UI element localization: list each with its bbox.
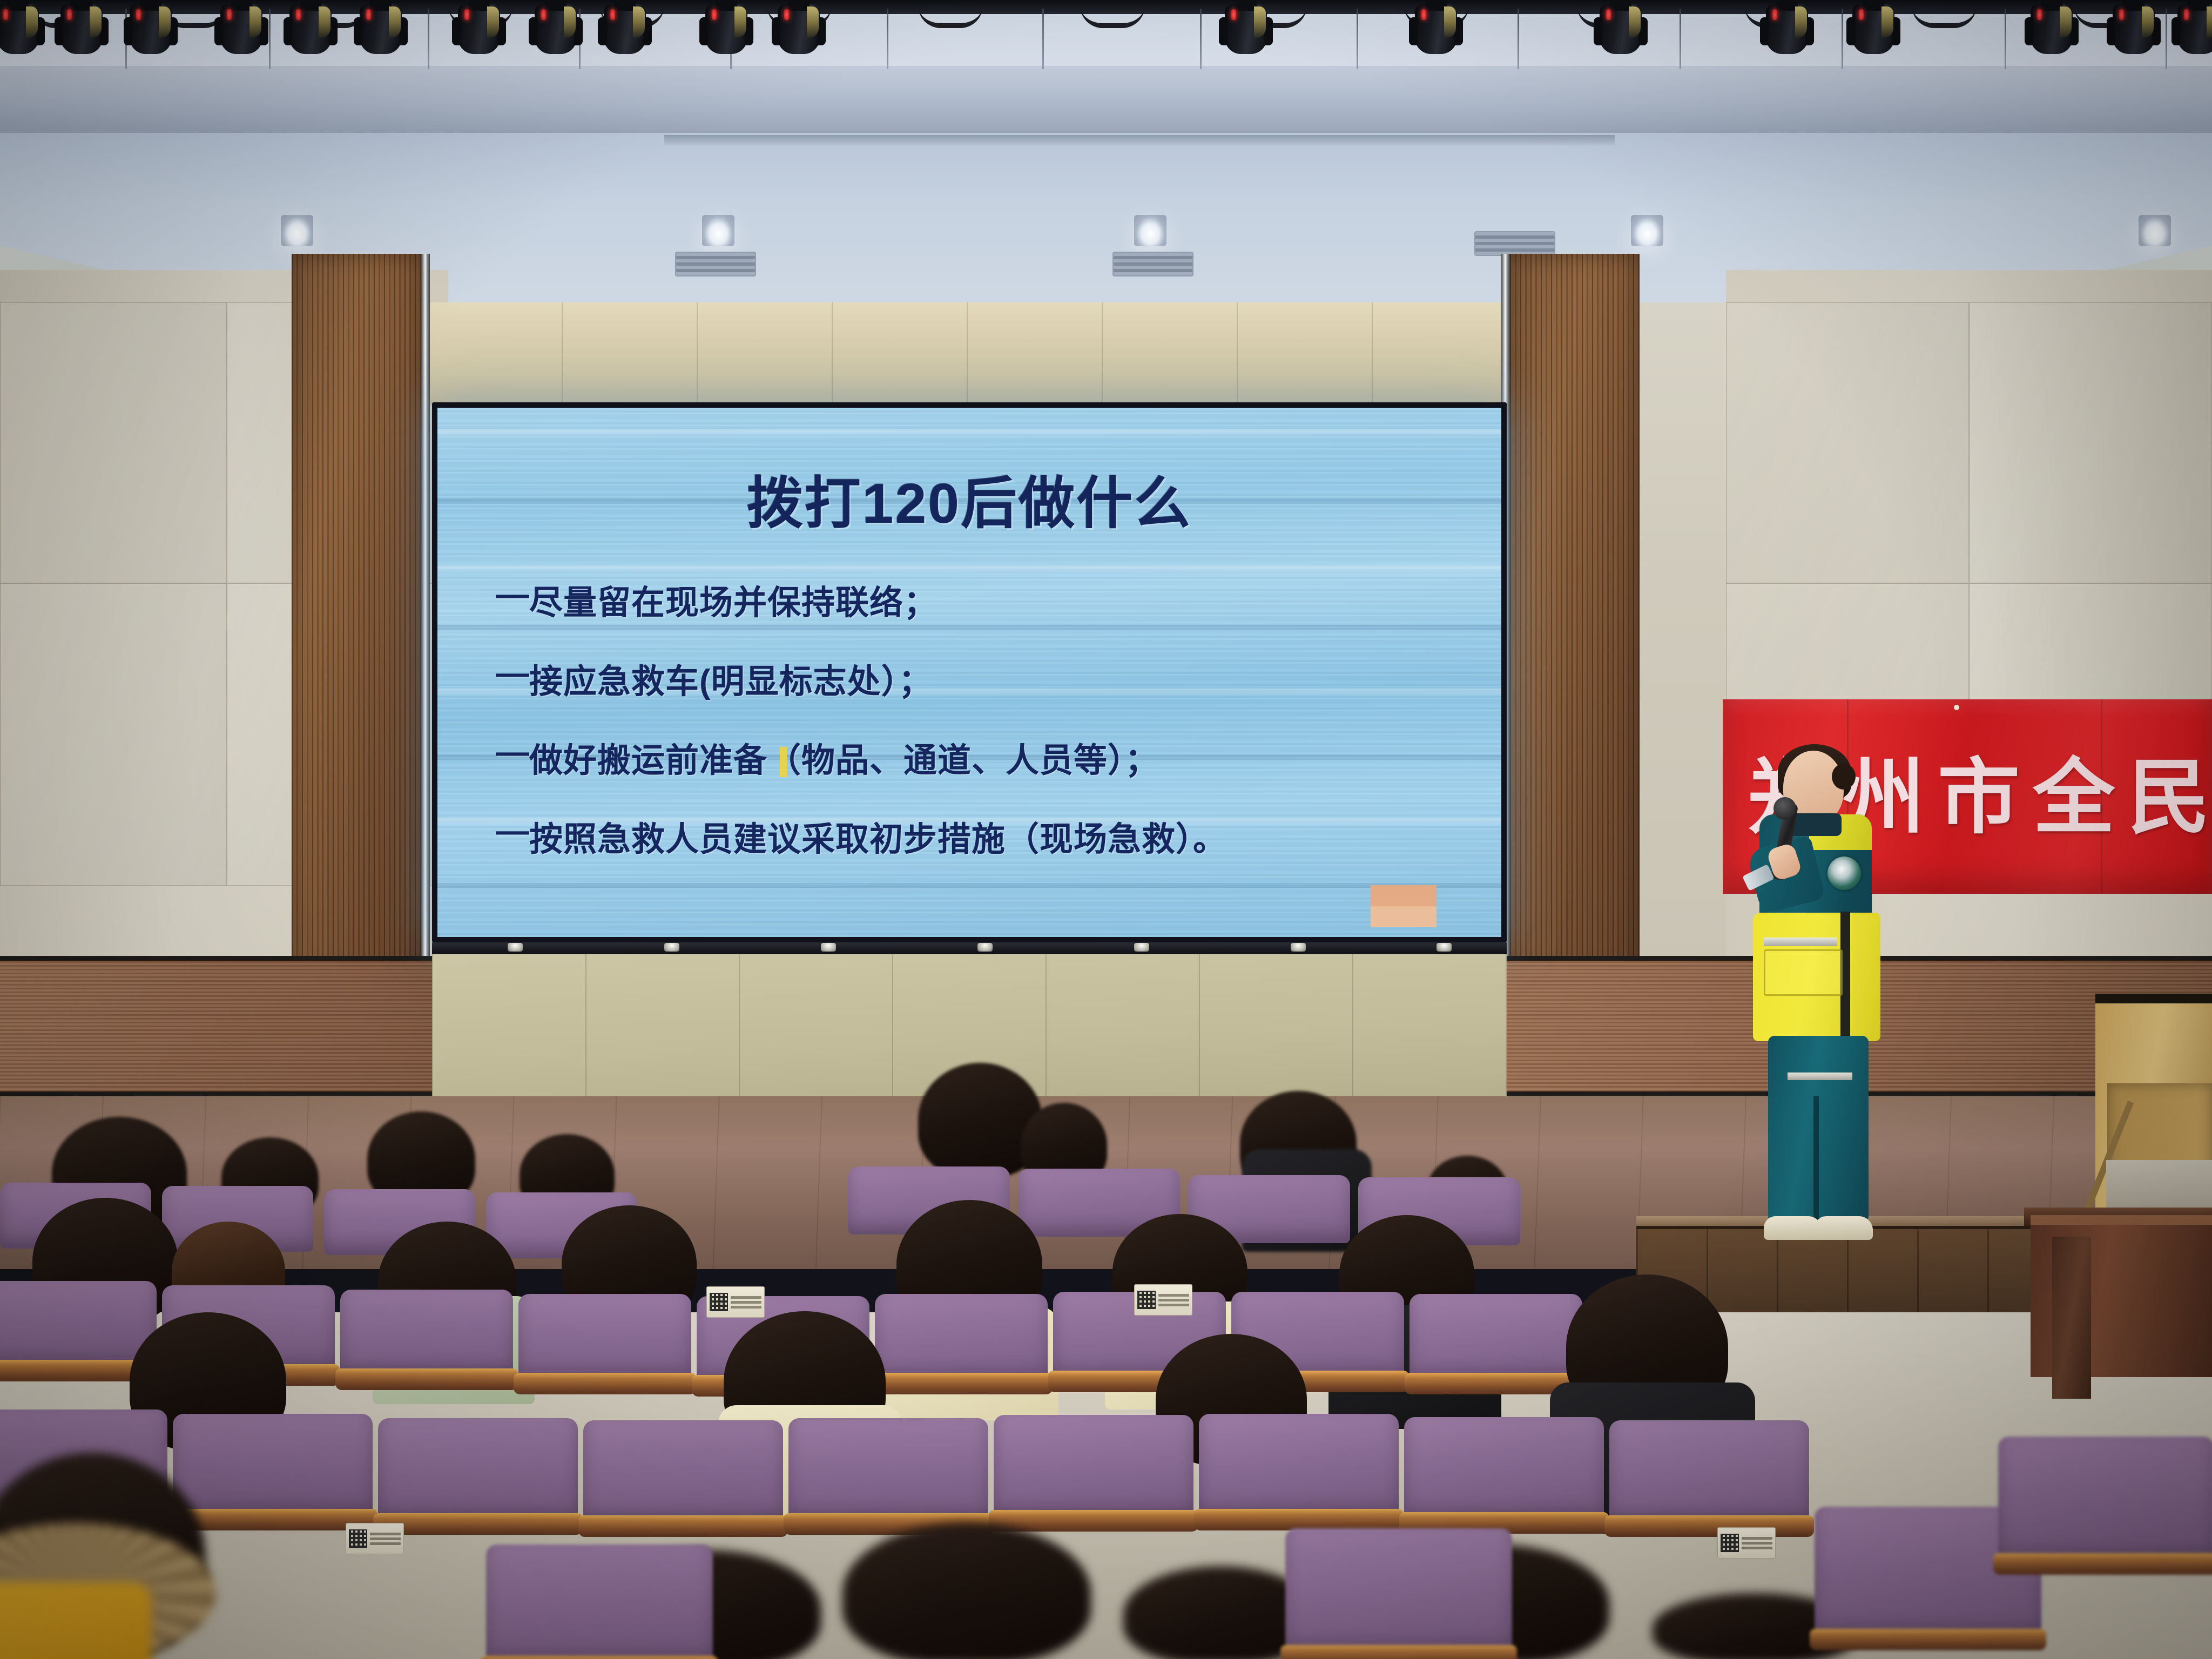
air-vent [1112, 252, 1193, 276]
seat[interactable] [1609, 1420, 1809, 1523]
bullet-text: 做好搬运前准备（物品、通道、人员等）； [529, 733, 1159, 781]
audience-coat [0, 1582, 151, 1659]
presenter-hair-bun [1832, 764, 1856, 790]
bullet-dash: — [496, 575, 529, 613]
stage-light-icon [535, 4, 577, 54]
stage-light-icon [360, 4, 402, 54]
air-vent [675, 252, 756, 276]
stage-light-icon [705, 4, 747, 54]
presenter-vest-pocket [1764, 949, 1843, 996]
wood-column-left [292, 254, 421, 977]
stage-light-icon [778, 4, 820, 54]
presenter-leg-separation [1813, 1096, 1819, 1222]
bezel-stud [508, 943, 523, 952]
seat-label [1134, 1284, 1192, 1316]
bullet-dash: — [496, 812, 529, 850]
slide-bullet-item: — 按照急救人员建议采取初步措施（现场急救）。 [496, 812, 1462, 860]
stage-light-icon [2177, 4, 2212, 54]
stage-light-icon [1766, 4, 1808, 54]
stage-light-icon [2113, 4, 2155, 54]
seat[interactable] [173, 1414, 373, 1516]
bullet-text: 尽量留在现场并保持联络； [529, 575, 938, 624]
seat[interactable] [518, 1294, 691, 1380]
presenter-shoe [1815, 1216, 1873, 1240]
qr-code-icon [710, 1293, 728, 1311]
screen-header-panel [427, 302, 1512, 405]
wainscot-left [0, 956, 432, 1096]
screen-bottom-bezel [432, 942, 1507, 954]
bezel-stud [1437, 943, 1452, 952]
presenter-trouser-reflective-strip [1788, 1073, 1852, 1080]
stage-light-icon [130, 4, 172, 54]
presenter-shoulder-badge-icon [1827, 857, 1861, 890]
qr-code-icon [1721, 1534, 1739, 1552]
bullet-text: 接应急救车(明显标志处）； [529, 654, 933, 703]
bullet-dash: — [496, 654, 529, 692]
seat[interactable] [1199, 1414, 1399, 1516]
text-cursor-artifact [780, 747, 787, 777]
chrome-trim-left [421, 254, 430, 977]
auditorium-scene: 拨打120后做什么 — 尽量留在现场并保持联络； — 接应急救车(明显标志处）；… [0, 0, 2212, 1659]
slide-bullet-list: — 尽量留在现场并保持联络； — 接应急救车(明显标志处）； — 做好搬运前准备… [496, 575, 1462, 891]
air-vent [1474, 231, 1555, 256]
qr-code-icon [349, 1529, 367, 1548]
bullet-dash: — [496, 733, 529, 771]
ceiling-downlight [281, 215, 313, 246]
bezel-stud [977, 943, 993, 952]
seat[interactable] [486, 1545, 713, 1659]
seat[interactable] [788, 1418, 988, 1521]
bullet-text: 按照急救人员建议采取初步措施（现场急救）。 [529, 812, 1227, 860]
bezel-stud [1291, 943, 1306, 952]
stage-light-icon [1415, 4, 1457, 54]
stage-light-icon [0, 4, 39, 54]
stage-light-icon [1225, 4, 1267, 54]
side-table-leg [2052, 1237, 2091, 1399]
screen-color-artifact [1371, 885, 1437, 927]
seat[interactable] [0, 1281, 157, 1367]
ceiling-downlight [1134, 215, 1166, 246]
ceiling-soffit [0, 66, 2212, 133]
seat[interactable] [583, 1420, 783, 1523]
ceiling-reveal-slot [664, 135, 1615, 146]
stage-light-icon [289, 4, 332, 54]
slide-title: 拨打120后做什么 [437, 457, 1501, 539]
seat-label [706, 1286, 765, 1318]
seat[interactable] [875, 1294, 1048, 1380]
seat[interactable] [340, 1290, 513, 1376]
led-screen[interactable]: 拨打120后做什么 — 尽量留在现场并保持联络； — 接应急救车(明显标志处）；… [432, 402, 1507, 942]
presenter-shoe [1764, 1216, 1822, 1240]
slide-bullet-item: — 做好搬运前准备（物品、通道、人员等）； [496, 733, 1462, 781]
stage-light-icon [604, 4, 646, 54]
slide-bullet-item: — 尽量留在现场并保持联络； [496, 575, 1462, 624]
seat[interactable] [378, 1418, 578, 1521]
stage-light-icon [1600, 4, 1642, 54]
presentation-slide: 拨打120后做什么 — 尽量留在现场并保持联络； — 接应急救车(明显标志处）；… [437, 408, 1501, 937]
audience-head [842, 1523, 1091, 1659]
stage-light-icon [2031, 4, 2073, 54]
ceiling-downlight [1631, 215, 1663, 246]
seat[interactable] [1285, 1528, 1512, 1653]
seat[interactable] [1998, 1437, 2212, 1561]
seat[interactable] [994, 1415, 1193, 1518]
qr-code-icon [1137, 1291, 1156, 1309]
stage-light-icon [220, 4, 262, 54]
presenter-vest-reflective-strip [1764, 938, 1837, 946]
stage-light-icon [1852, 4, 1894, 54]
stage-light-icon [458, 4, 500, 54]
bezel-stud [664, 943, 679, 952]
slide-bullet-item: — 接应急救车(明显标志处）； [496, 654, 1462, 703]
seat[interactable] [1404, 1417, 1604, 1520]
bezel-stud [1134, 943, 1149, 952]
ceiling-downlight [702, 215, 734, 246]
presenter [1750, 751, 1890, 1253]
seat[interactable] [1410, 1294, 1582, 1380]
microphone-head-icon [1773, 797, 1796, 820]
wood-column-right [1510, 254, 1640, 977]
bezel-stud [821, 943, 836, 952]
ceiling-downlight [2139, 215, 2171, 246]
seat-label [346, 1523, 404, 1554]
seat-label [1717, 1527, 1776, 1559]
stage-light-icon [60, 4, 103, 54]
